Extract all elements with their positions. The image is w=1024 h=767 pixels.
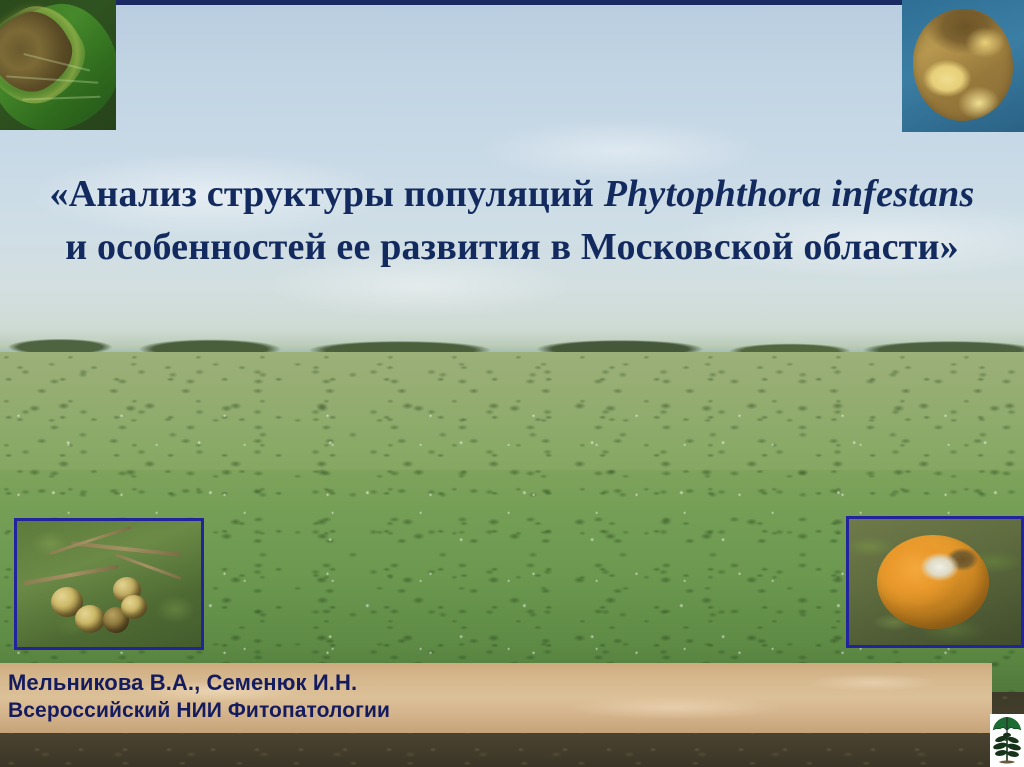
author-caption-band: Мельникова В.А., Семенюк И.Н. Всероссийс… [0,663,992,733]
thumbnail-potato-leaf-late-blight [0,0,116,130]
leaf-shape [0,0,116,130]
slide-title: «Анализ структуры популяций Phytophthora… [36,168,988,274]
potato-berry [75,605,105,633]
potato-berry [121,595,147,619]
presentation-slide: «Анализ структуры популяций Phytophthora… [0,0,1024,767]
affiliation: Всероссийский НИИ Фитопатологии [8,699,390,723]
plant-leaf [1006,742,1021,751]
title-part-1: «Анализ структуры популяций [50,173,604,215]
plant-leaf [995,749,1008,757]
plant-roots [999,761,1015,764]
title-species-epithet: infestans [831,173,974,215]
vniif-logo [990,714,1024,767]
thumbnail-potato-tuber-slice-blight [902,0,1024,132]
plant-leaf-top [1003,733,1011,737]
author-names: Мельникова В.А., Семенюк И.Н. [8,670,357,696]
thumbnail-tomato-late-blight [846,516,1024,648]
title-space [821,173,831,215]
tuber-cross-section [913,9,1013,121]
slide-top-border [0,0,1024,5]
tomato-fruit [877,535,989,629]
plant-leaf [992,741,1007,750]
title-species-genus: Phytophthora [604,173,822,215]
umbrella-plant-icon [990,714,1024,767]
title-part-2: и особенностей ее развития в Московской … [65,226,959,268]
plant-leaf [1007,750,1020,758]
thumbnail-potato-berries-diseased [14,518,204,650]
